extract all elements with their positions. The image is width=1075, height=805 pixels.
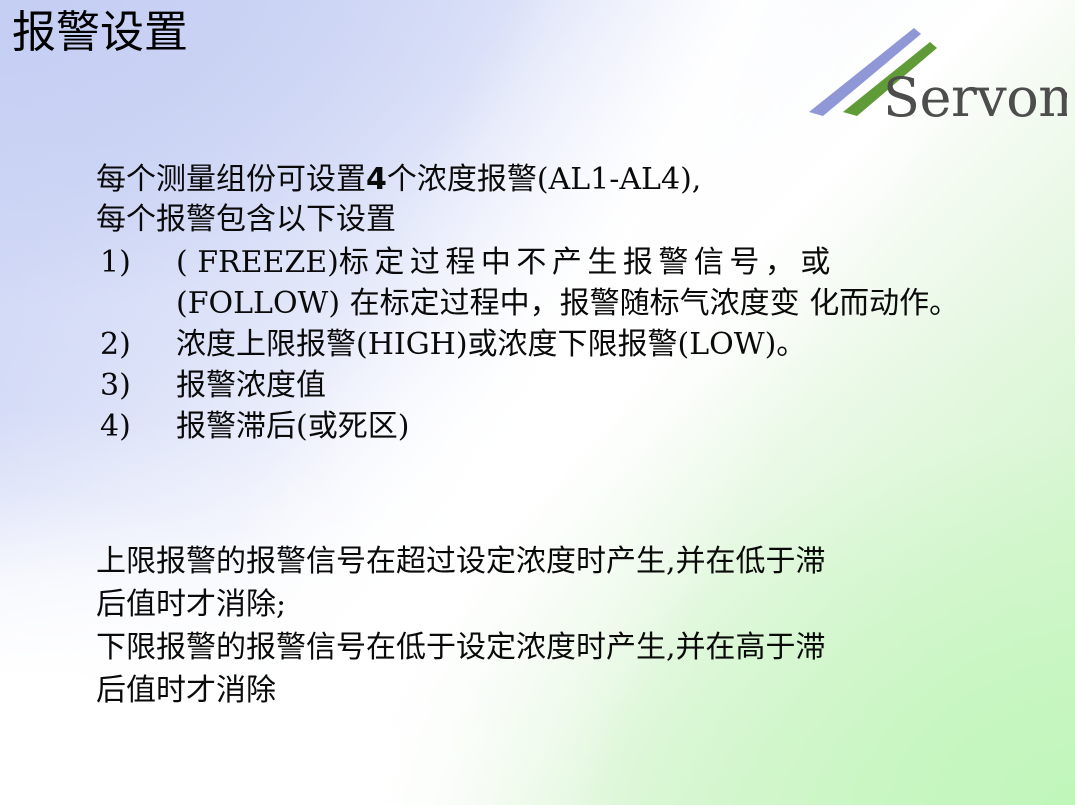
- list-item-3-line-1: 报警浓度值: [176, 368, 326, 403]
- servomex-logo: Servomex: [795, 18, 1067, 126]
- list-item-2-marker: 2): [100, 324, 131, 365]
- list-item-4-marker: 4): [100, 406, 131, 447]
- list-item-1-line-1: ( FREEZE)标定过程中不产生报警信号，或: [176, 245, 836, 280]
- slide-body: 每个测量组份可设置4个浓度报警(AL1-AL4), 每个报警包含以下设置 1) …: [96, 160, 996, 447]
- list-item-1-line-2: (FOLLOW) 在标定过程中，报警随标气浓度变: [176, 286, 800, 321]
- list-item-1-line-3: 化而动作。: [809, 286, 959, 321]
- list-item-1-line-2-text: 在标定过程中，报警随标气浓度变: [340, 286, 800, 321]
- lead-line-1: 每个测量组份可设置4个浓度报警(AL1-AL4),: [96, 160, 996, 200]
- list-item-2: 2) 浓度上限报警(HIGH)或浓度下限报警(LOW)。: [96, 324, 996, 365]
- list-item-3-line-1-text: 报警浓度值: [176, 368, 326, 403]
- list-item-1-line-2-latin: (FOLLOW): [176, 286, 340, 321]
- lead-line-1-pre: 每个测量组份可设置: [96, 162, 366, 197]
- list-item-1: 1) ( FREEZE)标定过程中不产生报警信号，或 (FOLLOW) 在标定过…: [96, 242, 996, 324]
- paragraph-low-alarm: 下限报警的报警信号在低于设定浓度时产生,并在高于滞 后值时才消除: [96, 626, 1016, 712]
- servomex-logo-svg: Servomex: [795, 18, 1067, 126]
- list-item-2-line-1-text: 浓度上限报警(HIGH)或浓度下限报警(LOW)。: [176, 327, 806, 362]
- list-item-1-marker: 1): [100, 242, 131, 283]
- paragraph-high-alarm-line-1: 上限报警的报警信号在超过设定浓度时产生,并在低于滞: [96, 540, 1016, 583]
- paragraph-low-alarm-line-1: 下限报警的报警信号在低于设定浓度时产生,并在高于滞: [96, 626, 1016, 669]
- paragraph-high-alarm: 上限报警的报警信号在超过设定浓度时产生,并在低于滞 后值时才消除;: [96, 540, 1016, 626]
- slide-canvas: 报警设置 Servomex 每个测量组份可设置4个浓度报警(AL1-AL4), …: [0, 0, 1075, 805]
- list-item-1-line-1-text: 标定过程中不产生报警信号，或: [339, 245, 836, 280]
- list-item-4: 4) 报警滞后(或死区): [96, 406, 996, 447]
- lead-line-1-number: 4: [366, 162, 387, 197]
- list-item-4-line-1: 报警滞后(或死区): [176, 409, 409, 444]
- list-item-1-line-1-latin: ( FREEZE): [176, 245, 339, 280]
- list-item-1-line-3-text: 化而动作。: [809, 286, 959, 321]
- servomex-wordmark: Servomex: [883, 66, 1067, 126]
- paragraph-low-alarm-line-2: 后值时才消除: [96, 669, 1016, 712]
- page-title: 报警设置: [12, 8, 188, 59]
- list-item-4-line-1-text: 报警滞后(或死区): [176, 409, 409, 444]
- lead-line-2: 每个报警包含以下设置: [96, 200, 996, 240]
- lead-line-2-pre: 每个报警包含以下设置: [96, 202, 396, 237]
- slide-footnote-block: 上限报警的报警信号在超过设定浓度时产生,并在低于滞 后值时才消除; 下限报警的报…: [96, 540, 1016, 712]
- list-item-2-line-1: 浓度上限报警(HIGH)或浓度下限报警(LOW)。: [176, 327, 806, 362]
- list-item-3-marker: 3): [100, 365, 131, 406]
- list-item-3: 3) 报警浓度值: [96, 365, 996, 406]
- paragraph-high-alarm-line-2: 后值时才消除;: [96, 583, 1016, 626]
- lead-line-1-post: 个浓度报警(AL1-AL4),: [387, 162, 701, 197]
- alarm-settings-list: 1) ( FREEZE)标定过程中不产生报警信号，或 (FOLLOW) 在标定过…: [96, 242, 996, 447]
